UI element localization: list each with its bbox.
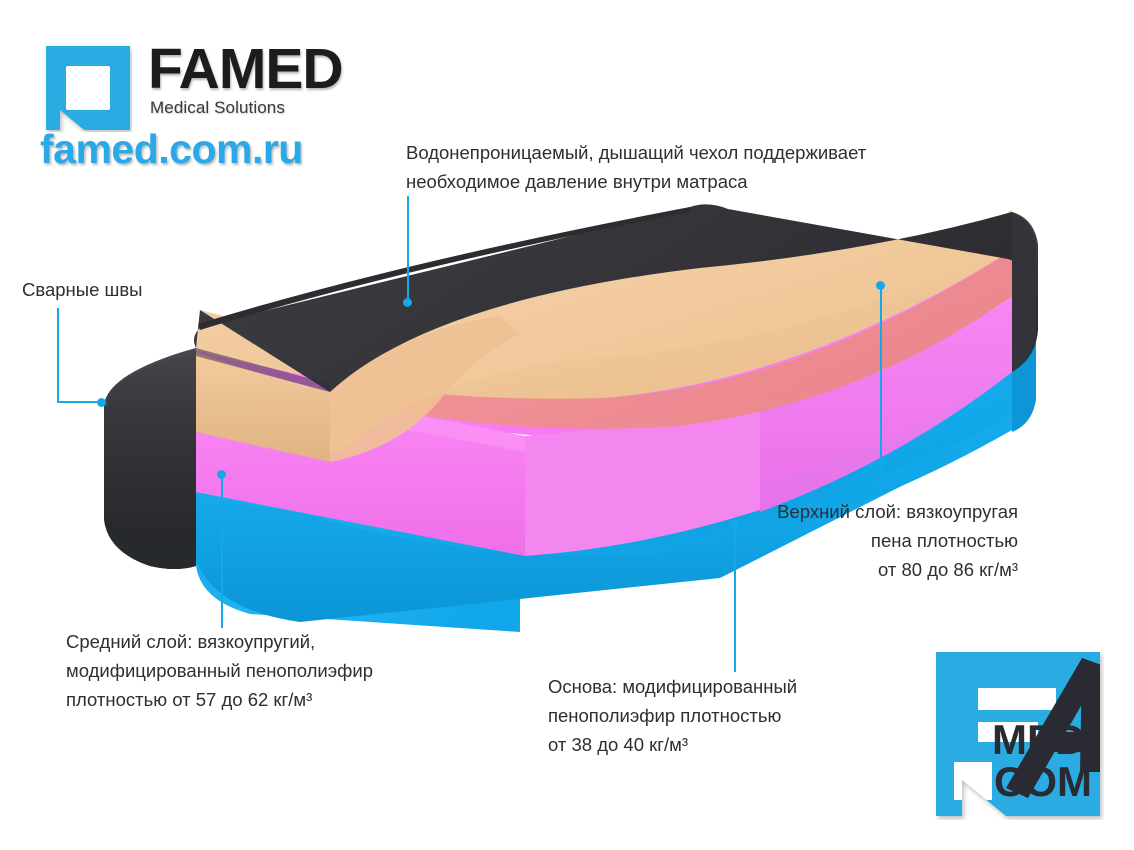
famed-square-logo-icon: [44, 44, 132, 132]
famedcom-med-text: MED: [992, 716, 1085, 763]
callout-middle-layer-text: Средний слой: вязкоупругий, модифицирова…: [66, 627, 486, 714]
leader-line-cover: [407, 196, 409, 302]
famed-tagline-text: Medical Solutions: [150, 98, 285, 118]
infographic-canvas: Водонепроницаемый, дышащий чехол поддерж…: [0, 0, 1134, 850]
callout-top-layer-text: Верхний слой: вязкоупругая пена плотност…: [760, 497, 1018, 584]
leader-dot-cover: [403, 298, 412, 307]
famed-website-url[interactable]: famed.com.ru: [40, 126, 303, 173]
famedcom-logo-icon[interactable]: MED COM: [932, 648, 1104, 820]
leader-dot-seams: [97, 398, 106, 407]
leader-line-middle-layer: [221, 478, 223, 628]
famed-wordmark-text: FAMED: [148, 38, 343, 100]
leader-dot-top-layer: [876, 281, 885, 290]
callout-base-layer-text: Основа: модифицированный пенополиэфир пл…: [548, 672, 878, 759]
leader-line-base-layer: [734, 524, 736, 672]
callout-cover-text: Водонепроницаемый, дышащий чехол поддерж…: [406, 138, 1006, 196]
leader-dot-base-layer: [730, 520, 739, 529]
famed-wordmark-group: FAMED Medical Solutions: [148, 42, 354, 120]
callout-seams-text: Сварные швы: [22, 275, 282, 304]
famedcom-com-text: COM: [994, 758, 1092, 805]
leader-line-top-layer: [880, 288, 882, 496]
leader-dot-middle-layer: [217, 470, 226, 479]
leader-line-seams-vertical: [57, 308, 59, 402]
